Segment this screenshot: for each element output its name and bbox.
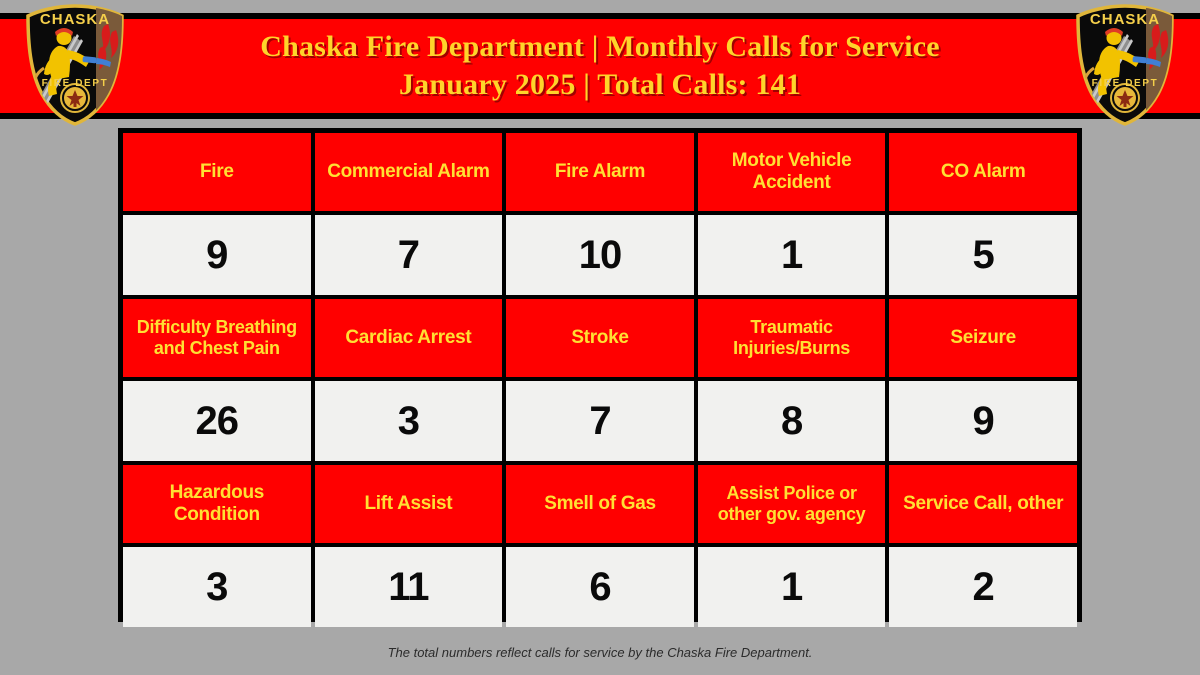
- logo-top-text: CHASKA: [1090, 11, 1160, 28]
- logo-bottom-text: FIRE DEPT: [1092, 78, 1159, 89]
- shield-badge-icon: CHASKA FIRE DEPT: [12, 2, 138, 128]
- header-banner: Chaska Fire Department | Monthly Calls f…: [0, 13, 1200, 119]
- table-cell-value: 5: [889, 215, 1077, 295]
- table-row-values: 9 7 10 1 5: [123, 215, 1077, 295]
- table-cell-value: 7: [506, 381, 694, 461]
- table-cell-label: Commercial Alarm: [315, 133, 503, 211]
- table-row-labels: Hazardous Condition Lift Assist Smell of…: [123, 465, 1077, 543]
- table-cell-label: CO Alarm: [889, 133, 1077, 211]
- logo-bottom-text: FIRE DEPT: [42, 78, 109, 89]
- table-cell-value: 3: [315, 381, 503, 461]
- page-title: Chaska Fire Department | Monthly Calls f…: [260, 28, 940, 105]
- table-cell-label: Motor Vehicle Accident: [698, 133, 886, 211]
- table-cell-value: 8: [698, 381, 886, 461]
- table-cell-label: Fire Alarm: [506, 133, 694, 211]
- table-cell-label: Traumatic Injuries/Burns: [698, 299, 886, 377]
- table-cell-label: Hazardous Condition: [123, 465, 311, 543]
- table-row-values: 26 3 7 8 9: [123, 381, 1077, 461]
- table-block-3: Hazardous Condition Lift Assist Smell of…: [123, 465, 1077, 627]
- table-cell-value: 2: [889, 547, 1077, 627]
- table-cell-value: 1: [698, 547, 886, 627]
- table-cell-label: Cardiac Arrest: [315, 299, 503, 377]
- page-title-line2: January 2025 | Total Calls: 141: [260, 66, 940, 104]
- table-row-values: 3 11 6 1 2: [123, 547, 1077, 627]
- table-cell-value: 26: [123, 381, 311, 461]
- page-title-line1: Chaska Fire Department | Monthly Calls f…: [260, 30, 940, 63]
- fire-department-logo-left: CHASKA FIRE DEPT: [12, 2, 138, 128]
- table-cell-value: 11: [315, 547, 503, 627]
- table-cell-value: 9: [123, 215, 311, 295]
- table-cell-value: 6: [506, 547, 694, 627]
- table-cell-label: Seizure: [889, 299, 1077, 377]
- footnote: The total numbers reflect calls for serv…: [0, 645, 1200, 660]
- table-cell-value: 7: [315, 215, 503, 295]
- table-cell-label: Difficulty Breathing and Chest Pain: [123, 299, 311, 377]
- table-cell-label: Fire: [123, 133, 311, 211]
- calls-for-service-table: Fire Commercial Alarm Fire Alarm Motor V…: [118, 128, 1082, 622]
- table-cell-label: Lift Assist: [315, 465, 503, 543]
- table-cell-value: 10: [506, 215, 694, 295]
- table-cell-label: Service Call, other: [889, 465, 1077, 543]
- table-cell-label: Assist Police or other gov. agency: [698, 465, 886, 543]
- table-cell-value: 9: [889, 381, 1077, 461]
- table-cell-value: 3: [123, 547, 311, 627]
- shield-badge-icon: CHASKA FIRE DEPT: [1062, 2, 1188, 128]
- fire-department-logo-right: CHASKA FIRE DEPT: [1062, 2, 1188, 128]
- table-cell-label: Stroke: [506, 299, 694, 377]
- table-block-2: Difficulty Breathing and Chest Pain Card…: [123, 299, 1077, 461]
- table-cell-label: Smell of Gas: [506, 465, 694, 543]
- table-row-labels: Difficulty Breathing and Chest Pain Card…: [123, 299, 1077, 377]
- logo-top-text: CHASKA: [40, 11, 110, 28]
- table-cell-value: 1: [698, 215, 886, 295]
- table-row-labels: Fire Commercial Alarm Fire Alarm Motor V…: [123, 133, 1077, 211]
- table-block-1: Fire Commercial Alarm Fire Alarm Motor V…: [123, 133, 1077, 295]
